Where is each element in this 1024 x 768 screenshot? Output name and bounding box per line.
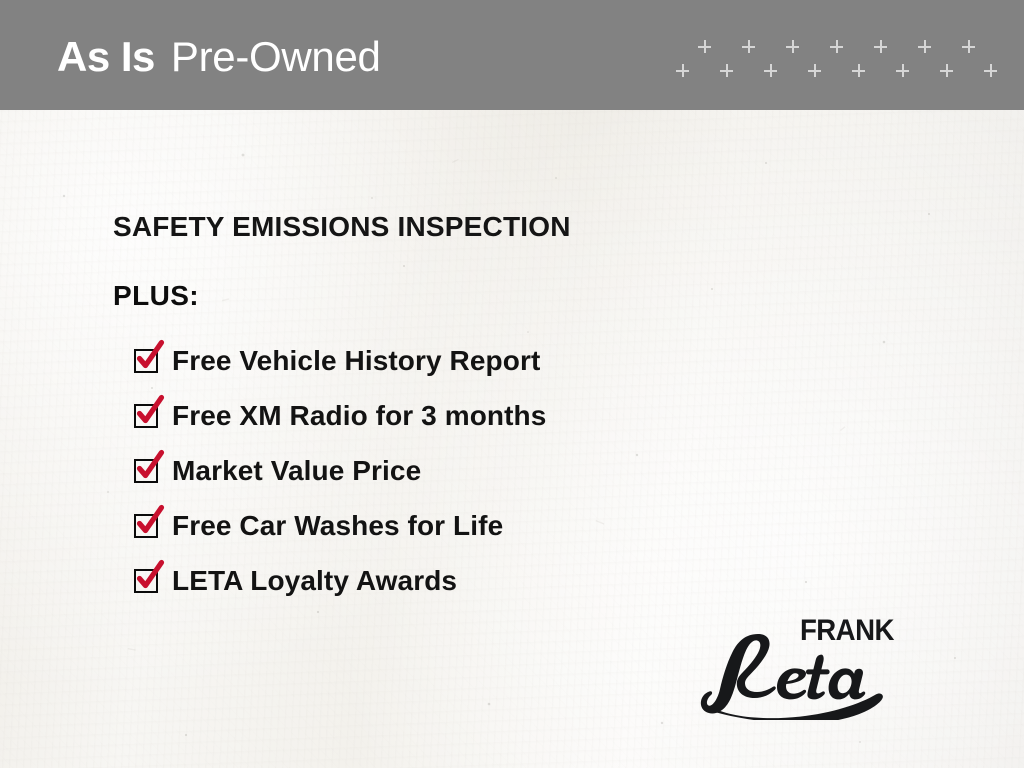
- plus-mark-icon: [676, 64, 689, 77]
- list-item[interactable]: Free Vehicle History Report: [134, 334, 813, 389]
- checkbox[interactable]: [134, 569, 158, 593]
- plus-mark-icon: [984, 64, 997, 77]
- checkmark-icon: [132, 503, 168, 539]
- list-item[interactable]: Free XM Radio for 3 months: [134, 389, 813, 444]
- plus-mark-icon: [808, 64, 821, 77]
- checkmark-icon: [132, 338, 168, 374]
- page-title: As IsPre-Owned: [57, 36, 381, 78]
- plus-mark-icon: [742, 40, 755, 53]
- benefits-list: Free Vehicle History Report Free XM Radi…: [134, 334, 813, 609]
- plus-mark-icon: [764, 64, 777, 77]
- checkbox[interactable]: [134, 459, 158, 483]
- plus-mark-icon: [830, 40, 843, 53]
- logo-leta-script: [700, 628, 915, 720]
- checkbox[interactable]: [134, 404, 158, 428]
- list-item-label: Free Vehicle History Report: [172, 347, 540, 375]
- plus-mark-icon: [852, 64, 865, 77]
- list-item[interactable]: Market Value Price: [134, 444, 813, 499]
- plus-mark-icon: [962, 40, 975, 53]
- plus-mark-icon: [874, 40, 887, 53]
- page-title-light: Pre-Owned: [171, 33, 381, 80]
- checkmark-icon: [132, 448, 168, 484]
- checkmark-icon: [132, 558, 168, 594]
- plus-mark-icon: [918, 40, 931, 53]
- list-item-label: LETA Loyalty Awards: [172, 567, 457, 595]
- list-item-label: Free Car Washes for Life: [172, 512, 503, 540]
- plus-mark-icon: [698, 40, 711, 53]
- headline: SAFETY EMISSIONS INSPECTION: [113, 212, 813, 243]
- page-title-bold: As Is: [57, 33, 155, 80]
- list-item[interactable]: Free Car Washes for Life: [134, 499, 813, 554]
- plus-decoration-row-bottom: [670, 64, 1015, 84]
- plus-mark-icon: [720, 64, 733, 77]
- plus-decoration-row-top: [670, 40, 1015, 60]
- plus-decoration: [670, 40, 1015, 95]
- list-item[interactable]: LETA Loyalty Awards: [134, 554, 813, 609]
- plus-mark-icon: [940, 64, 953, 77]
- checkmark-icon: [132, 393, 168, 429]
- checkbox[interactable]: [134, 514, 158, 538]
- main-content: SAFETY EMISSIONS INSPECTION PLUS: Free V…: [113, 212, 813, 609]
- list-item-label: Market Value Price: [172, 457, 421, 485]
- checkbox[interactable]: [134, 349, 158, 373]
- brand-logo: FRANK: [700, 608, 915, 720]
- slide: As IsPre-Owned SAFETY EMISSIONS INSPECTI…: [0, 0, 1024, 768]
- plus-mark-icon: [896, 64, 909, 77]
- plus-label: PLUS:: [113, 281, 813, 312]
- list-item-label: Free XM Radio for 3 months: [172, 402, 546, 430]
- header-band: As IsPre-Owned: [0, 0, 1024, 110]
- plus-mark-icon: [786, 40, 799, 53]
